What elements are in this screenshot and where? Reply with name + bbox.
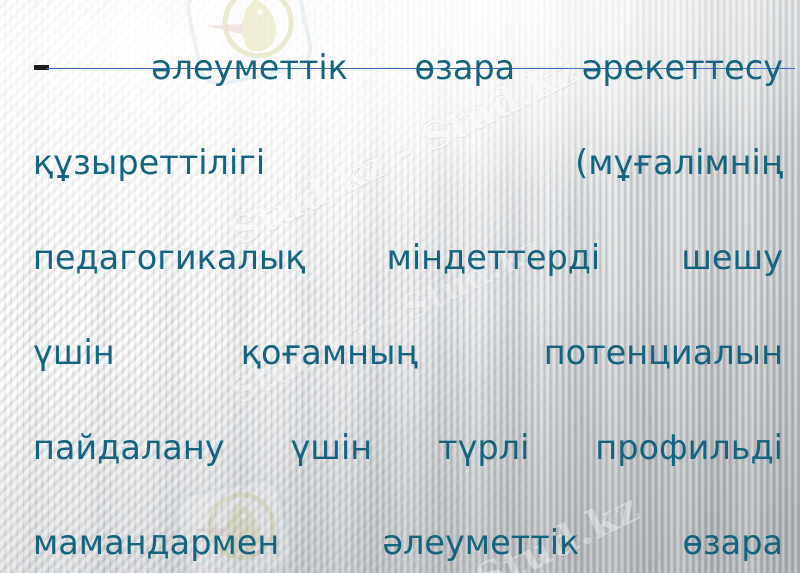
slide-content: әлеуметтік өзара әрекеттесу құзыреттіліг… [0,0,800,573]
body-line-6: мамандармен әлеуметтік өзара [33,519,783,573]
body-line-4: үшін қоғамның потенциалын [33,329,783,424]
body-line-2: құзыреттілігі (мұғалімнің [33,139,783,234]
slide-canvas: Stud.kz - Stud.kz Stud.kz - Stud.kz Stud… [0,0,800,573]
body-paragraph: әлеуметтік өзара әрекеттесу құзыреттіліг… [33,44,783,573]
body-line-3: педагогикалық міндеттерді шешу [33,234,783,329]
body-line-1: әлеуметтік өзара әрекеттесу [33,44,783,139]
body-line-5: пайдалану үшін түрлі профильді [33,424,783,519]
